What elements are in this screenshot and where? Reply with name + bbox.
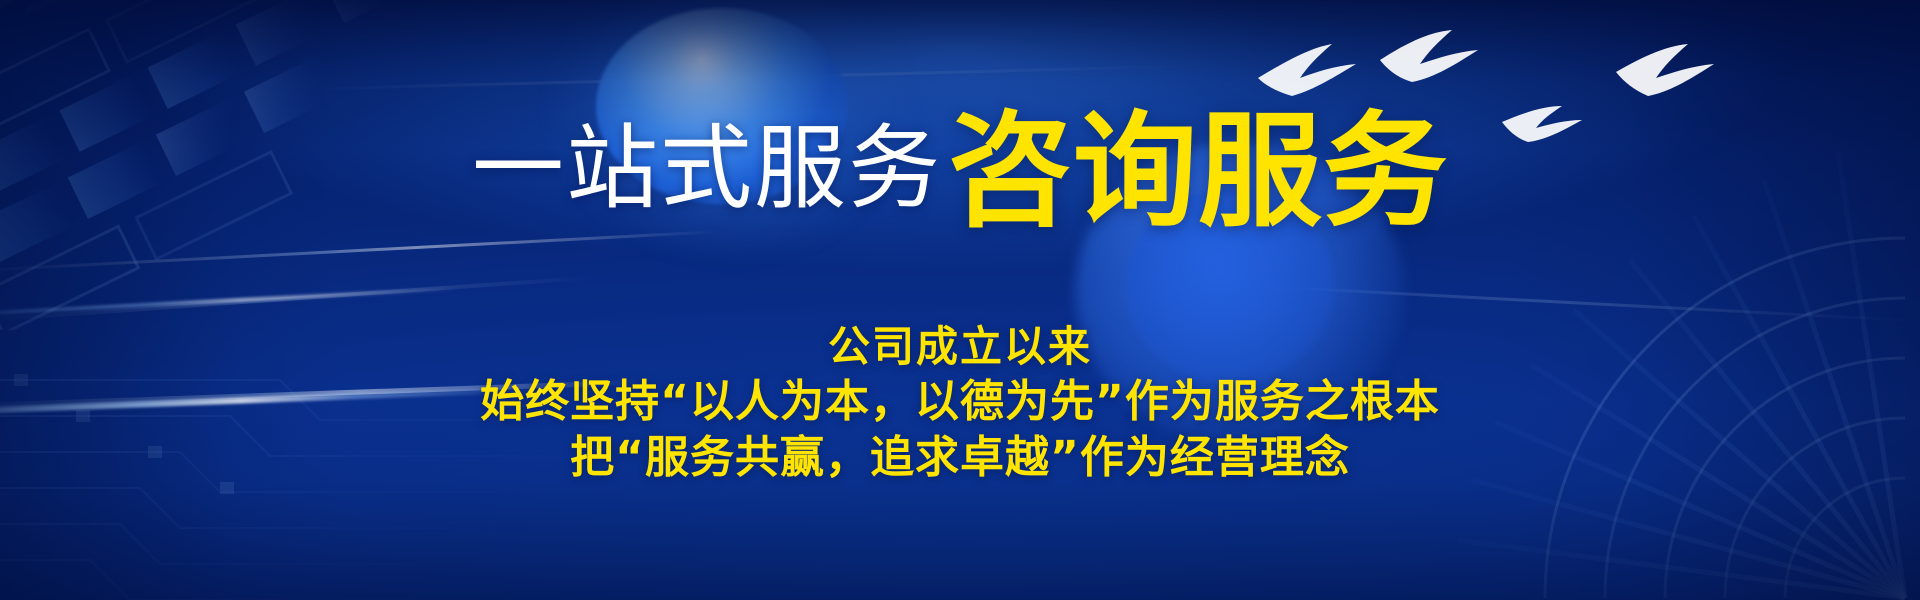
- page-title: 一站式服务咨询服务: [0, 96, 1920, 220]
- left-vignette: [0, 0, 340, 600]
- promotional-banner: 一站式服务咨询服务 公司成立以来 始终坚持“以人为本，以德为先”作为服务之根本 …: [0, 0, 1920, 600]
- subtitle-block: 公司成立以来 始终坚持“以人为本，以德为先”作为服务之根本 把“服务共赢，追求卓…: [0, 320, 1920, 486]
- headline-yellow-text: 咨询服务: [948, 100, 1448, 244]
- subtitle-line-3: 把“服务共赢，追求卓越”作为经营理念: [0, 430, 1920, 486]
- subtitle-line-2: 始终坚持“以人为本，以德为先”作为服务之根本: [0, 374, 1920, 430]
- subtitle-line-1: 公司成立以来: [0, 320, 1920, 374]
- headline-white-text: 一站式服务: [472, 115, 942, 222]
